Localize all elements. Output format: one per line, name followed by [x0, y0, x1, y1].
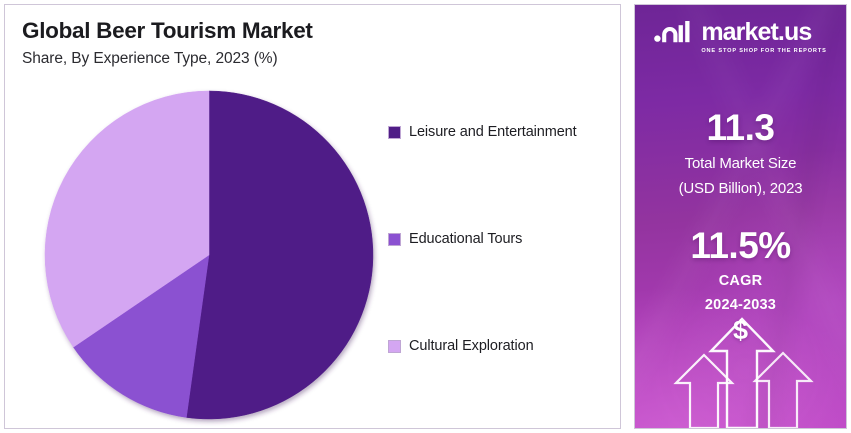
stat-label-line-2: (USD Billion), 2023 — [635, 179, 846, 198]
chart-subtitle: Share, By Experience Type, 2023 (%) — [22, 50, 278, 68]
brand-stats-panel: market.us ONE STOP SHOP FOR THE REPORTS … — [634, 4, 847, 429]
pie-chart-svg — [41, 87, 377, 423]
pie-slice[interactable] — [186, 91, 373, 419]
legend-item-label: Educational Tours — [409, 231, 522, 247]
chart-card: Global Beer Tourism Market Share, By Exp… — [4, 4, 621, 429]
stat-cagr: 11.5% CAGR 2024-2033 — [635, 227, 846, 315]
legend-swatch-icon — [389, 234, 400, 245]
growth-arrows-icon — [635, 303, 847, 428]
legend-item-label: Cultural Exploration — [409, 338, 534, 354]
infographic-root: Global Beer Tourism Market Share, By Exp… — [0, 0, 851, 433]
logo-tagline: ONE STOP SHOP FOR THE REPORTS — [701, 48, 826, 54]
page-title: Global Beer Tourism Market — [22, 18, 313, 44]
logo-text-block: market.us ONE STOP SHOP FOR THE REPORTS — [701, 20, 826, 54]
market-us-bars-logo-icon — [654, 19, 694, 54]
stat-market-size: 11.3 Total Market Size (USD Billion), 20… — [635, 109, 846, 198]
pie-slice-group — [45, 91, 373, 419]
legend-swatch-icon — [389, 341, 400, 352]
logo-wordmark: market.us — [701, 20, 811, 45]
stat-label-line-1: Total Market Size — [635, 154, 846, 173]
brand-logo[interactable]: market.us ONE STOP SHOP FOR THE REPORTS — [635, 19, 846, 54]
pie-chart — [41, 87, 377, 423]
stat-label-line-1: CAGR — [635, 272, 846, 291]
stat-value: 11.3 — [635, 109, 846, 148]
legend-item-label: Leisure and Entertainment — [409, 124, 577, 140]
stat-value: 11.5% — [635, 227, 846, 266]
legend-swatch-icon — [389, 127, 400, 138]
chart-legend: Leisure and Entertainment Educational To… — [389, 123, 614, 355]
legend-item-leisure-and-entertainment[interactable]: Leisure and Entertainment — [389, 123, 614, 141]
legend-item-cultural-exploration[interactable]: Cultural Exploration — [389, 337, 614, 355]
legend-item-educational-tours[interactable]: Educational Tours — [389, 230, 614, 248]
